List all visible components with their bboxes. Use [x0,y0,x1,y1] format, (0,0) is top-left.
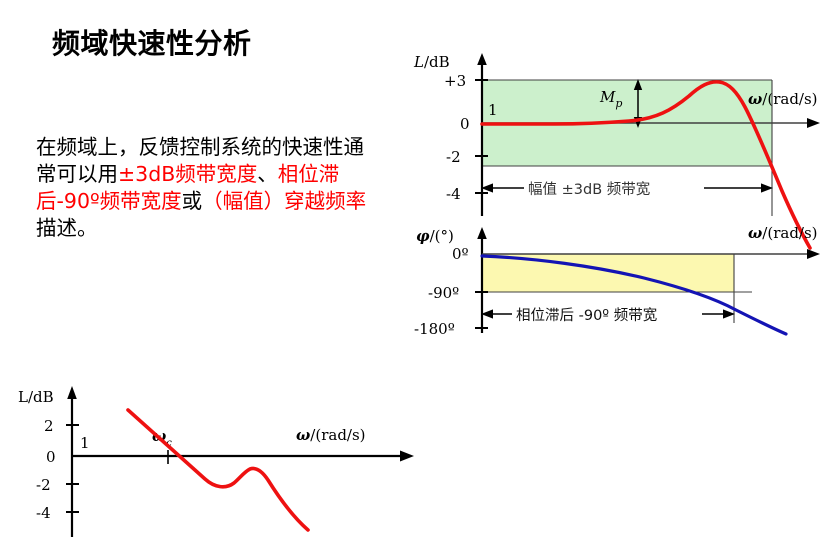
unit-gain-label: 1 [488,101,498,119]
ytick-label-2: 2 [44,417,54,435]
body-seg-5: （幅值）穿越频率 [202,189,366,213]
phase-plot: φ/(°) 0º -90º -180º ω/(rad/s) 相位滞后 -90º … [414,224,820,338]
openloop-x-axis-label: ω/(rad/s) [296,426,366,444]
ytick-label-plus3: +3 [444,72,466,90]
bode-diagram-figure: L/dB +3 0 -2 -4 1 ω/(rad/s) Mp [404,48,834,338]
phase-bandwidth-label: 相位滞后 -90º 频带宽 [516,307,657,324]
unit-gain-label: 1 [80,434,90,452]
ytick-label-zero: 0 [460,115,470,133]
magnitude-bandwidth-label: 幅值 ±3dB 频带宽 [528,181,650,198]
ytick-label-minus4: -4 [446,185,461,203]
ytick-label-minus2: -2 [36,476,51,494]
body-seg-1: ±3dB频带宽度 [118,162,257,186]
openloop-x-axis-arrow [400,451,414,462]
page-title: 频域快速性分析 [52,22,252,62]
body-seg-2: 、 [257,162,278,186]
openloop-y-axis-label: L/dB [18,388,54,406]
open-loop-bode-figure: L/dB 2 0 -2 -4 1 ωc ω/(rad/s) [0,352,420,552]
ytick-label-minus180deg: -180º [414,320,455,338]
ytick-label-minus90deg: -90º [428,284,459,302]
magnitude-y-axis-arrow [477,53,487,65]
slide-canvas: 频域快速性分析 在频域上，反馈控制系统的快速性通常可以用±3dB频带宽度、相位滞… [0,0,834,555]
magnitude-x-axis-label: ω/(rad/s) [748,90,818,108]
magnitude-plot: L/dB +3 0 -2 -4 1 ω/(rad/s) Mp [413,53,820,248]
phase-y-axis-label: φ/(°) [416,227,454,245]
ytick-label-0deg: 0º [452,245,469,263]
ytick-label-minus2: -2 [446,148,461,166]
body-seg-6: 描述。 [36,216,98,240]
phase-y-axis-arrow [477,227,487,239]
ytick-label-zero: 0 [46,448,56,466]
magnitude-x-axis-arrow [807,118,820,128]
magnitude-y-axis-label: L/dB [413,53,450,71]
ytick-label-minus4: -4 [36,504,51,522]
openloop-y-axis-arrow [67,386,77,399]
phase-x-axis-label: ω/(rad/s) [748,224,818,242]
phase-x-axis-arrow [807,249,820,259]
body-paragraph: 在频域上，反馈控制系统的快速性通常可以用±3dB频带宽度、相位滞后-90º频带宽… [36,134,381,242]
body-seg-4: 或 [182,189,203,213]
